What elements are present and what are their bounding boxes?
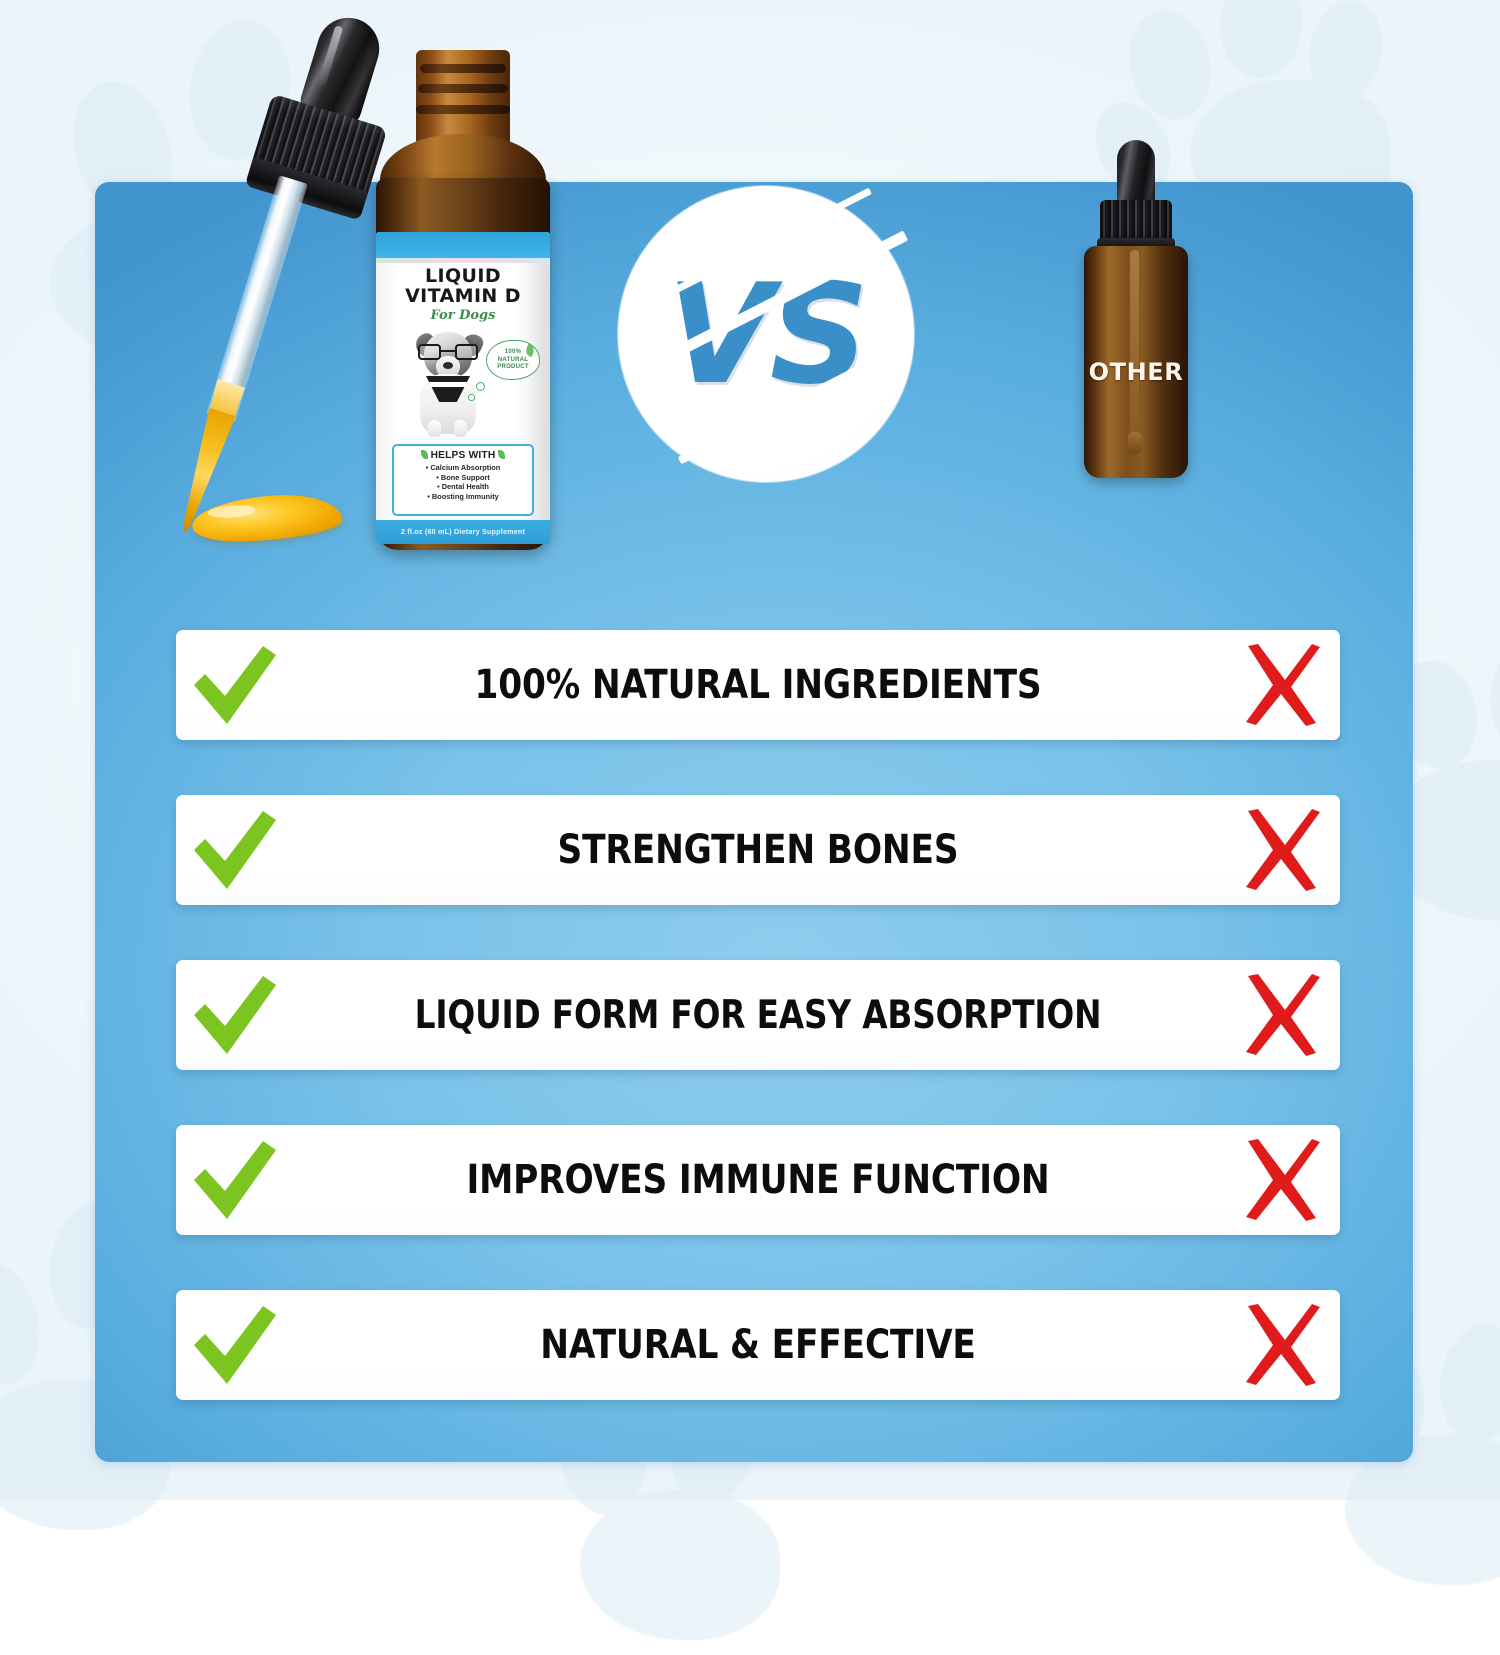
table-row: NATURAL & EFFECTIVE: [176, 1290, 1340, 1400]
check-icon: [176, 641, 294, 729]
table-row: LIQUID FORM FOR EASY ABSORPTION: [176, 960, 1340, 1070]
infographic-stage: LIQUID VITAMIN D For Dogs: [0, 0, 1500, 1500]
cross-icon: [1222, 809, 1340, 891]
table-row: IMPROVES IMMUNE FUNCTION: [176, 1125, 1340, 1235]
feature-label: 100% NATURAL INGREDIENTS: [359, 662, 1157, 708]
table-row: STRENGTHEN BONES: [176, 795, 1340, 905]
feature-label: LIQUID FORM FOR EASY ABSORPTION: [368, 993, 1148, 1038]
comparison-rows: 100% NATURAL INGREDIENTS STRENGTHEN BONE…: [0, 0, 1500, 1500]
check-icon: [176, 1301, 294, 1389]
cross-icon: [1222, 644, 1340, 726]
check-icon: [176, 806, 294, 894]
cross-icon: [1222, 974, 1340, 1056]
feature-label: NATURAL & EFFECTIVE: [359, 1322, 1157, 1368]
check-icon: [176, 971, 294, 1059]
check-icon: [176, 1136, 294, 1224]
cross-icon: [1222, 1304, 1340, 1386]
cross-icon: [1222, 1139, 1340, 1221]
table-row: 100% NATURAL INGREDIENTS: [176, 630, 1340, 740]
feature-label: IMPROVES IMMUNE FUNCTION: [359, 1157, 1157, 1203]
feature-label: STRENGTHEN BONES: [359, 827, 1157, 873]
